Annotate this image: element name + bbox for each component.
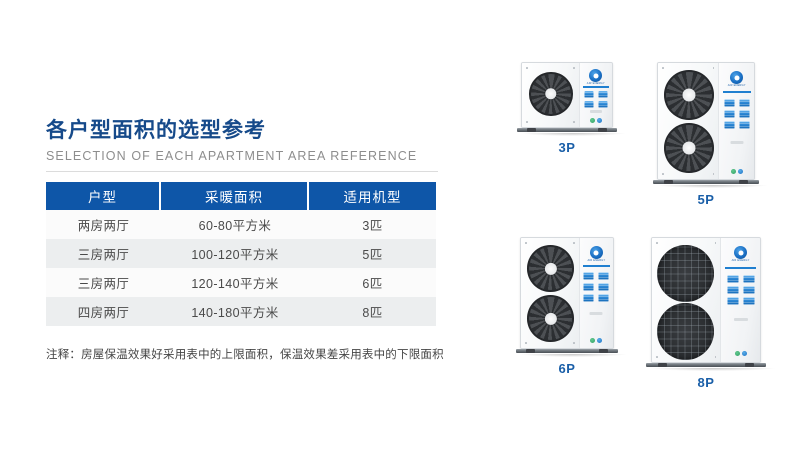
brand-text: AIR ENERGY: [732, 260, 750, 263]
panel-slot: [590, 312, 603, 315]
cell-area: 60-80平方米: [161, 210, 309, 239]
product-cell-8p: AIR ENERGY: [636, 237, 776, 390]
unit-image-6p: AIR ENERGY: [520, 237, 614, 357]
drop-shadow: [521, 133, 625, 136]
apartment-model-table: 户型 采暖面积 适用机型 两房两厅 60-80平方米 3匹 三房两厅 100-1…: [46, 182, 436, 326]
eco-badge-icon: [590, 338, 595, 343]
vent-louver: [724, 99, 734, 107]
vent-louver: [739, 99, 749, 107]
drop-shadow: [651, 368, 775, 371]
vent-grid: [584, 91, 607, 108]
cell-apartment: 三房两厅: [46, 239, 161, 268]
cell-area: 140-180平方米: [161, 297, 309, 326]
control-panel: AIR ENERGY: [719, 63, 754, 179]
page-title: 各户型面积的选型参考: [46, 118, 446, 144]
vent-louver: [727, 286, 738, 294]
vent-louver: [727, 275, 738, 283]
vent-louver: [743, 286, 754, 294]
unit-image-3p: AIR ENERGY: [521, 62, 613, 136]
vent-louver: [724, 121, 734, 129]
brand-text: AIR ENERGY: [587, 260, 605, 263]
vent-louver: [743, 275, 754, 283]
product-gallery: AIR ENERGY: [496, 62, 786, 412]
vent-louver: [584, 283, 594, 291]
vent-louver: [584, 272, 594, 280]
brand-logo: AIR ENERGY: [587, 246, 605, 263]
vent-louver: [598, 101, 607, 108]
page-subtitle: SELECTION OF EACH APARTMENT AREA REFEREN…: [46, 149, 446, 163]
vent-louver: [727, 297, 738, 305]
column-header-model: 适用机型: [309, 182, 436, 210]
vent-louver: [598, 91, 607, 98]
cell-model: 8匹: [309, 297, 436, 326]
fan-icon: [657, 245, 714, 302]
panel-slot: [730, 141, 743, 144]
vent-louver: [743, 297, 754, 305]
left-content-panel: 各户型面积的选型参考 SELECTION OF EACH APARTMENT A…: [46, 118, 446, 362]
vent-louver: [739, 121, 749, 129]
mounting-base: [646, 363, 766, 367]
vent-louver: [599, 294, 609, 302]
table-header-row: 户型 采暖面积 适用机型: [46, 182, 436, 210]
unit-image-8p: AIR ENERGY: [651, 237, 761, 371]
table-row: 三房两厅 100-120平方米 5匹: [46, 239, 436, 268]
control-panel: AIR ENERGY: [721, 238, 760, 362]
mounting-base: [653, 180, 759, 184]
product-cell-6p: AIR ENERGY: [502, 237, 632, 376]
logo-icon: [589, 69, 602, 82]
fan-housing: [522, 63, 580, 127]
cell-apartment: 两房两厅: [46, 210, 161, 239]
control-panel: AIR ENERGY: [580, 63, 612, 127]
eco-badges: [731, 169, 743, 174]
cell-model: 6匹: [309, 268, 436, 297]
fan-housing: [652, 238, 721, 362]
vent-louver: [599, 272, 609, 280]
drop-shadow: [657, 185, 767, 188]
unit-label-5p: 5P: [636, 192, 776, 207]
eco-badges: [590, 118, 602, 123]
vent-louver: [584, 294, 594, 302]
fan-icon: [527, 295, 574, 342]
vent-louver: [584, 91, 593, 98]
panel-slot: [734, 318, 748, 321]
unit-label-6p: 6P: [502, 361, 632, 376]
cell-model: 5匹: [309, 239, 436, 268]
cell-apartment: 四房两厅: [46, 297, 161, 326]
eco-badge-icon: [738, 169, 743, 174]
eco-badges: [735, 351, 747, 356]
column-header-apartment: 户型: [46, 182, 161, 210]
mounting-base: [516, 349, 618, 353]
mounting-base: [517, 128, 617, 132]
cell-model: 3匹: [309, 210, 436, 239]
fan-icon: [527, 245, 574, 292]
cell-area: 120-140平方米: [161, 268, 309, 297]
title-divider: [46, 171, 438, 172]
vent-louver: [739, 110, 749, 118]
panel-divider: [723, 91, 751, 93]
logo-icon: [590, 246, 603, 259]
panel-divider: [583, 265, 609, 267]
panel-slot: [590, 110, 602, 113]
panel-divider: [725, 267, 756, 269]
vent-louver: [584, 101, 593, 108]
brand-text: AIR ENERGY: [728, 85, 746, 88]
logo-icon: [730, 71, 743, 84]
brand-logo: AIR ENERGY: [587, 69, 605, 86]
eco-badge-icon: [731, 169, 736, 174]
logo-icon: [734, 246, 747, 259]
fan-icon: [657, 303, 714, 360]
panel-divider: [583, 86, 609, 88]
fan-housing: [658, 63, 719, 179]
brand-logo: AIR ENERGY: [732, 246, 750, 263]
cell-area: 100-120平方米: [161, 239, 309, 268]
product-cell-5p: AIR ENERGY: [636, 62, 776, 207]
unit-image-5p: AIR ENERGY: [657, 62, 755, 188]
fan-icon: [664, 70, 714, 120]
fan-icon: [529, 72, 573, 116]
table-row: 四房两厅 140-180平方米 8匹: [46, 297, 436, 326]
vent-grid: [584, 272, 609, 302]
product-cell-3p: AIR ENERGY: [502, 62, 632, 155]
unit-label-8p: 8P: [636, 375, 776, 390]
drop-shadow: [520, 354, 626, 357]
fan-housing: [521, 238, 580, 348]
table-row: 两房两厅 60-80平方米 3匹: [46, 210, 436, 239]
control-panel: AIR ENERGY: [580, 238, 613, 348]
brand-logo: AIR ENERGY: [728, 71, 746, 88]
eco-badge-icon: [597, 118, 602, 123]
unit-label-3p: 3P: [502, 140, 632, 155]
cell-apartment: 三房两厅: [46, 268, 161, 297]
fan-icon: [664, 123, 714, 173]
table-row: 三房两厅 120-140平方米 6匹: [46, 268, 436, 297]
table-footnote: 注释：房屋保温效果好采用表中的上限面积，保温效果差采用表中的下限面积: [46, 346, 446, 362]
slide-root: 各户型面积的选型参考 SELECTION OF EACH APARTMENT A…: [0, 0, 800, 456]
eco-badge-icon: [742, 351, 747, 356]
vent-louver: [724, 110, 734, 118]
column-header-area: 采暖面积: [161, 182, 309, 210]
vent-grid: [724, 99, 749, 129]
eco-badge-icon: [590, 118, 595, 123]
eco-badge-icon: [735, 351, 740, 356]
eco-badges: [590, 338, 602, 343]
vent-louver: [599, 283, 609, 291]
vent-grid: [727, 275, 754, 305]
eco-badge-icon: [597, 338, 602, 343]
